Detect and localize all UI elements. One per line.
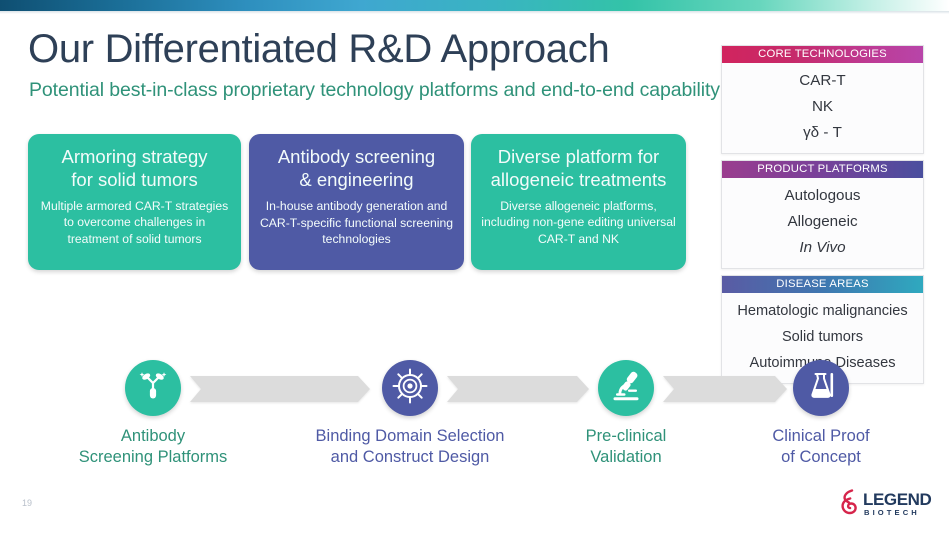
capabilities-panel: CORE TECHNOLOGIES CAR-T NK γδ - T PRODUC… <box>721 45 924 390</box>
flow-step-antibody-screening[interactable]: Antibody Screening Platforms <box>125 360 181 416</box>
process-flow: Antibody Screening Platforms <box>0 360 949 475</box>
panel-heading-product-platforms: PRODUCT PLATFORMS <box>722 161 923 178</box>
panel-row: Allogeneic <box>722 209 923 235</box>
flow-step-label-line2: and Construct Design <box>331 448 490 466</box>
flow-step-label: Antibody Screening Platforms <box>79 426 228 468</box>
panel-row: NK <box>722 94 923 120</box>
flow-step-preclinical-validation[interactable]: Pre-clinical Validation <box>598 360 654 416</box>
page-subtitle: Potential best-in-class proprietary tech… <box>29 79 720 102</box>
panel-row: Solid tumors <box>722 324 923 350</box>
panel-row: CAR-T <box>722 68 923 94</box>
flow-step-icon-circle <box>382 360 438 416</box>
flow-arrow <box>190 376 370 402</box>
pillar-card-title: Diverse platform for allogeneic treatmen… <box>481 145 676 191</box>
antibody-icon <box>136 369 170 408</box>
pillar-card-title-line1: Armoring strategy <box>62 146 208 167</box>
pillar-card-diverse-platform: Diverse platform for allogeneic treatmen… <box>471 134 686 270</box>
panel-row: Hematologic malignancies <box>722 298 923 324</box>
panel-row: In Vivo <box>722 235 923 261</box>
pillar-card-title-line2: for solid tumors <box>71 169 197 190</box>
flow-step-label-line2: Validation <box>590 448 661 466</box>
panel-group-product-platforms: PRODUCT PLATFORMS Autologous Allogeneic … <box>721 160 924 269</box>
pillar-card-title-line1: Antibody screening <box>278 146 435 167</box>
flow-step-label-line2: Screening Platforms <box>79 448 228 466</box>
pillar-card-title-line2: & engineering <box>299 169 413 190</box>
flow-step-label-line1: Clinical Proof <box>772 427 869 445</box>
flow-step-icon-circle <box>125 360 181 416</box>
flow-step-icon-circle <box>598 360 654 416</box>
flow-step-label-line1: Pre-clinical <box>586 427 667 445</box>
flow-step-label-line2: of Concept <box>781 448 861 466</box>
logo-subtext: BIOTECH <box>864 508 920 517</box>
panel-row: Autologous <box>722 183 923 209</box>
flow-step-label: Binding Domain Selection and Construct D… <box>316 426 505 468</box>
top-gradient-bar <box>0 0 949 11</box>
iv-infusion-icon <box>805 370 837 407</box>
pillar-card-title-line1: Diverse platform for <box>498 146 659 167</box>
target-crosshair-icon <box>392 368 428 409</box>
flow-step-label-line1: Binding Domain Selection <box>316 427 505 445</box>
flow-step-label: Pre-clinical Validation <box>586 426 667 468</box>
pillar-card-antibody-screening: Antibody screening & engineering In-hous… <box>249 134 464 270</box>
flow-step-binding-domain-selection[interactable]: Binding Domain Selection and Construct D… <box>382 360 438 416</box>
pillar-cards: Armoring strategy for solid tumors Multi… <box>28 134 686 270</box>
flow-arrow <box>663 376 787 402</box>
panel-row: γδ - T <box>722 120 923 146</box>
panel-heading-disease-areas: DISEASE AREAS <box>722 276 923 293</box>
pillar-card-armoring-strategy: Armoring strategy for solid tumors Multi… <box>28 134 241 270</box>
pillar-card-body: In-house antibody generation and CAR-T-s… <box>259 198 454 248</box>
page-title: Our Differentiated R&D Approach <box>28 27 609 72</box>
panel-rows: CAR-T NK γδ - T <box>722 63 923 153</box>
logo-wordmark: LEGEND <box>863 490 931 510</box>
legend-swirl-icon <box>838 489 862 520</box>
microscope-icon <box>609 369 643 408</box>
company-logo: LEGEND BIOTECH <box>838 489 930 522</box>
top-bar-shadow <box>0 11 949 14</box>
pillar-card-title-line2: allogeneic treatments <box>491 169 667 190</box>
pillar-card-title: Antibody screening & engineering <box>259 145 454 191</box>
flow-step-clinical-proof-of-concept[interactable]: Clinical Proof of Concept <box>793 360 849 416</box>
flow-step-label-line1: Antibody <box>121 427 185 445</box>
page-number: 19 <box>22 498 32 508</box>
pillar-card-body: Multiple armored CAR-T strategies to ove… <box>38 198 231 247</box>
panel-group-core-technologies: CORE TECHNOLOGIES CAR-T NK γδ - T <box>721 45 924 154</box>
flow-arrow <box>447 376 589 402</box>
flow-step-icon-circle <box>793 360 849 416</box>
pillar-card-title: Armoring strategy for solid tumors <box>38 145 231 191</box>
pillar-card-body: Diverse allogeneic platforms, including … <box>481 198 676 247</box>
panel-rows: Autologous Allogeneic In Vivo <box>722 178 923 268</box>
flow-step-label: Clinical Proof of Concept <box>772 426 869 468</box>
panel-heading-core-technologies: CORE TECHNOLOGIES <box>722 46 923 63</box>
